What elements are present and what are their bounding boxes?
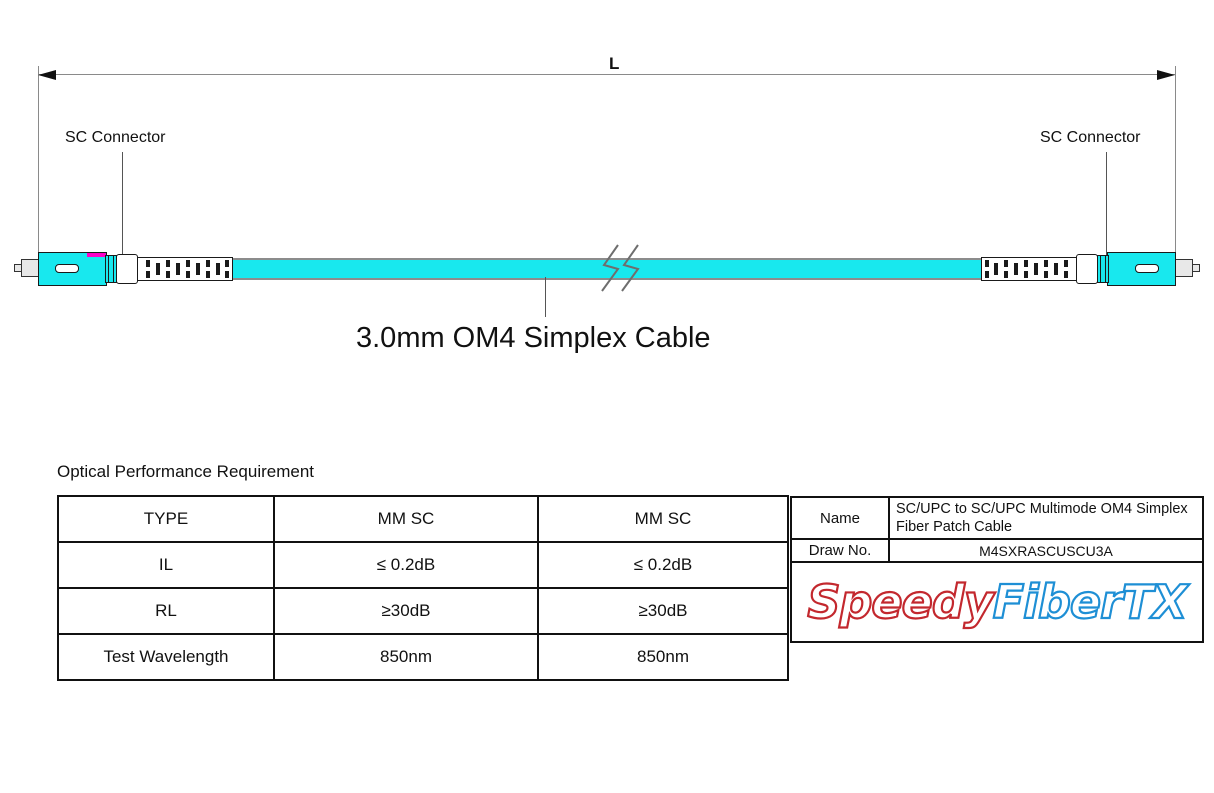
right-connector-collar-line-1 xyxy=(1100,255,1101,283)
left-boot-rib xyxy=(216,263,220,275)
left-connector-latch-slot xyxy=(55,264,79,273)
perf-cell-col1: MM SC xyxy=(274,496,538,542)
dimension-line xyxy=(38,74,1176,75)
left-connector-ferrule xyxy=(21,259,39,277)
left-boot-rib xyxy=(225,271,229,278)
perf-cell-label: Test Wavelength xyxy=(58,634,274,680)
perf-cell-col1: ≥30dB xyxy=(274,588,538,634)
right-connector-latch-slot xyxy=(1135,264,1159,273)
right-boot-rib xyxy=(1044,271,1048,278)
right-boot-rib xyxy=(1064,260,1068,267)
perf-cell-col2: MM SC xyxy=(538,496,788,542)
perf-cell-col2: 850nm xyxy=(538,634,788,680)
right-boot-rib xyxy=(1004,260,1008,267)
table-row: Test Wavelength 850nm 850nm xyxy=(58,634,788,680)
right-boot-rib xyxy=(1024,260,1028,267)
dimension-label: L xyxy=(609,54,620,74)
left-boot-rib xyxy=(176,263,180,275)
title-block-drawno-key: Draw No. xyxy=(791,539,889,562)
title-block: Name SC/UPC to SC/UPC Multimode OM4 Simp… xyxy=(790,496,1204,643)
title-block-name-value: SC/UPC to SC/UPC Multimode OM4 Simplex F… xyxy=(889,497,1203,539)
right-boot-rib xyxy=(1064,271,1068,278)
left-boot-rib xyxy=(186,260,190,267)
dimension-arrow-left-icon xyxy=(38,70,56,80)
title-block-row-drawno: Draw No. M4SXRASCUSCU3A xyxy=(791,539,1203,562)
table-row: IL ≤ 0.2dB ≤ 0.2dB xyxy=(58,542,788,588)
left-boot-rib xyxy=(166,271,170,278)
left-boot-rib xyxy=(156,263,160,275)
drawing-canvas: L SC Connector SC Connector xyxy=(0,0,1214,793)
left-boot-rib xyxy=(225,260,229,267)
right-boot-rib xyxy=(985,271,989,278)
perf-cell-col1: ≤ 0.2dB xyxy=(274,542,538,588)
left-connector-accent-stripe xyxy=(87,253,106,257)
title-block-drawno-value: M4SXRASCUSCU3A xyxy=(889,539,1203,562)
dimension-extension-line-right xyxy=(1175,66,1176,266)
right-boot-rib xyxy=(994,263,998,275)
cable-break-symbol-icon xyxy=(596,243,658,293)
table-row: TYPE MM SC MM SC xyxy=(58,496,788,542)
perf-cell-label: IL xyxy=(58,542,274,588)
performance-table: TYPE MM SC MM SC IL ≤ 0.2dB ≤ 0.2dB RL ≥… xyxy=(57,495,789,681)
right-boot-rib xyxy=(1014,263,1018,275)
left-connector-collar-line-1 xyxy=(108,255,109,283)
right-connector-ferrule xyxy=(1175,259,1193,277)
dimension-arrow-right-icon xyxy=(1157,70,1175,80)
left-connector-leader-line xyxy=(122,152,123,264)
perf-cell-col2: ≤ 0.2dB xyxy=(538,542,788,588)
left-boot-rib xyxy=(146,260,150,267)
cable-leader-line xyxy=(545,277,546,317)
left-connector-label: SC Connector xyxy=(65,129,166,147)
title-block-row-name: Name SC/UPC to SC/UPC Multimode OM4 Simp… xyxy=(791,497,1203,539)
brand-logo: SpeedyFiberTX xyxy=(791,562,1203,642)
title-block-name-key: Name xyxy=(791,497,889,539)
left-connector-crimp xyxy=(116,254,138,284)
table-row: RL ≥30dB ≥30dB xyxy=(58,588,788,634)
left-boot-rib xyxy=(146,271,150,278)
left-boot-rib xyxy=(206,260,210,267)
right-boot-rib xyxy=(1054,263,1058,275)
perf-cell-label: RL xyxy=(58,588,274,634)
right-boot-rib xyxy=(1004,271,1008,278)
right-boot-rib xyxy=(1024,271,1028,278)
right-connector-crimp xyxy=(1076,254,1098,284)
performance-table-caption: Optical Performance Requirement xyxy=(57,462,314,482)
dimension-extension-line-left xyxy=(38,66,39,266)
title-block-row-logo: SpeedyFiberTX xyxy=(791,562,1203,642)
right-boot-rib xyxy=(1044,260,1048,267)
right-boot-rib xyxy=(985,260,989,267)
brand-logo-fibertx: FiberTX xyxy=(993,579,1187,625)
perf-cell-col2: ≥30dB xyxy=(538,588,788,634)
right-connector-collar xyxy=(1097,255,1109,283)
brand-logo-speedy: Speedy xyxy=(807,579,992,625)
left-boot-rib xyxy=(166,260,170,267)
perf-cell-col1: 850nm xyxy=(274,634,538,680)
left-connector-collar-line-2 xyxy=(113,255,114,283)
right-connector-ferrule-tip xyxy=(1192,264,1200,272)
left-boot-rib xyxy=(196,263,200,275)
left-boot-rib xyxy=(186,271,190,278)
perf-cell-label: TYPE xyxy=(58,496,274,542)
right-boot-rib xyxy=(1034,263,1038,275)
cable-label: 3.0mm OM4 Simplex Cable xyxy=(356,322,711,355)
right-connector-label: SC Connector xyxy=(1040,129,1141,147)
right-connector-leader-line xyxy=(1106,152,1107,264)
left-boot-rib xyxy=(206,271,210,278)
right-connector-collar-line-2 xyxy=(1105,255,1106,283)
